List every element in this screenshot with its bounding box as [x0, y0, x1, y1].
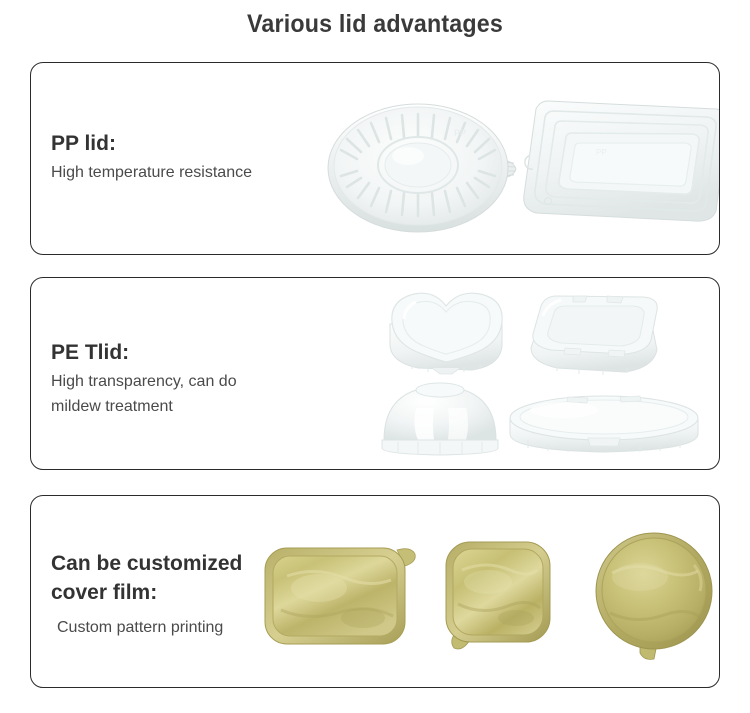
pp-lid-heading: PP lid:: [51, 131, 252, 156]
pe-tlid-heading: PE Tlid:: [51, 340, 237, 365]
pp-lid-text-block: PP lid: High temperature resistance: [51, 131, 252, 185]
product-image-rectangular-pp-lid: PP: [518, 83, 720, 238]
card-pe-tlid: PE Tlid: High transparency, can do milde…: [30, 277, 720, 470]
cover-film-description: Custom pattern printing: [57, 615, 242, 640]
cover-film-heading-line-2: cover film:: [51, 580, 242, 605]
svg-text:PP: PP: [596, 148, 607, 157]
cover-film-text-block: Can be customized cover film: Custom pat…: [51, 551, 242, 640]
card-cover-film: Can be customized cover film: Custom pat…: [30, 495, 720, 688]
pe-tlid-text-block: PE Tlid: High transparency, can do milde…: [51, 340, 237, 419]
product-image-rectangular-gold-foil-film: [259, 536, 419, 656]
cover-film-heading-line-1: Can be customized: [51, 551, 242, 576]
product-image-oval-flat-pe-lid: [504, 388, 704, 458]
svg-text:PP: PP: [454, 128, 466, 138]
card-pp-lid: PP lid: High temperature resistance: [30, 62, 720, 255]
product-image-round-gold-foil-film: [584, 529, 720, 664]
product-image-heart-shaped-pe-lid: [376, 286, 516, 381]
product-image-square-pe-lid: [521, 286, 671, 381]
product-image-square-gold-foil-film: [436, 534, 566, 659]
product-image-round-ribbed-pp-lid: PP: [326, 88, 531, 238]
pe-tlid-description-line-1: High transparency, can do: [51, 369, 237, 394]
product-image-dome-pe-lid: [376, 378, 506, 458]
pp-lid-description: High temperature resistance: [51, 160, 252, 185]
page-title: Various lid advantages: [26, 10, 724, 39]
pe-tlid-description-line-2: mildew treatment: [51, 394, 237, 419]
